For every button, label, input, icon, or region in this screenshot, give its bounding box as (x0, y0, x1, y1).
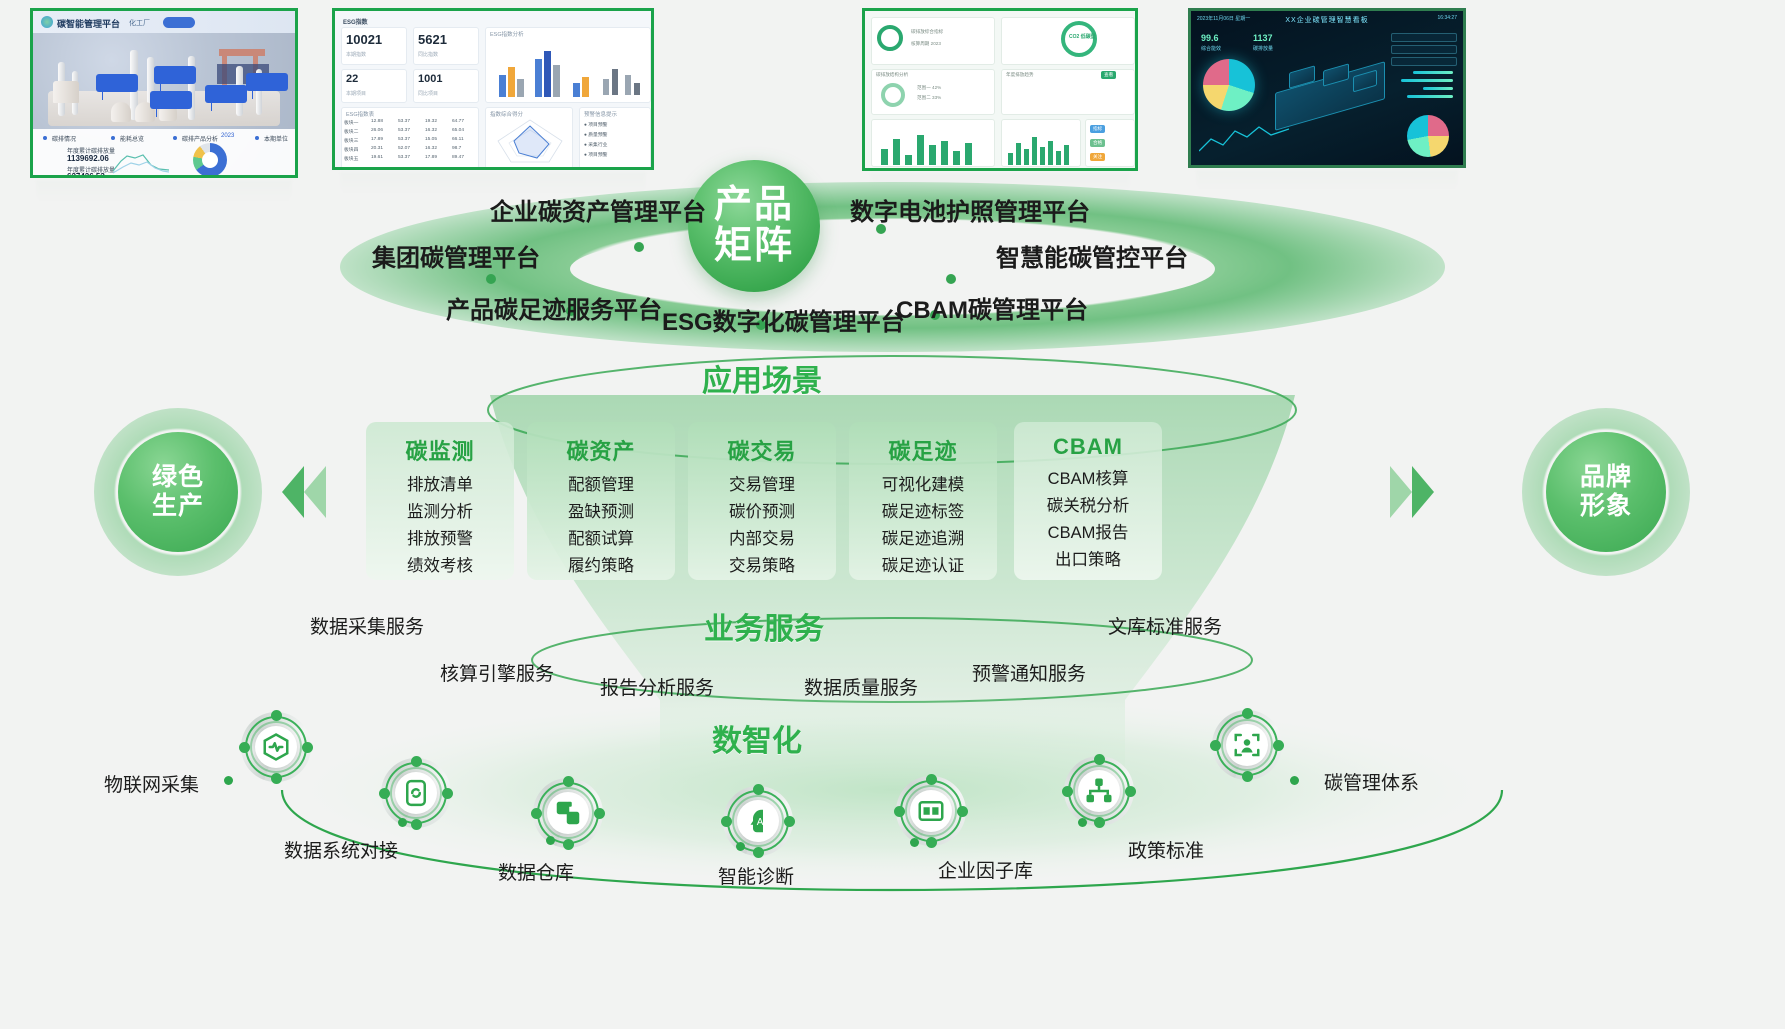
scenario-card-item[interactable]: 碳足迹认证 (882, 553, 965, 580)
panel-label-0: 碳排情况 (52, 134, 76, 143)
service-label-accounting-engine[interactable]: 核算引擎服务 (440, 659, 554, 686)
platform-label-product-carbon-footprint[interactable]: 产品碳足迹服务平台 (446, 290, 662, 325)
table-cell: 52.07 (398, 146, 410, 151)
table-cell: 板块二 (344, 128, 358, 135)
ring-dot-3 (946, 274, 956, 284)
node-pip-bottom (411, 819, 422, 830)
scenario-card-item[interactable]: 碳足迹追溯 (882, 526, 965, 553)
table-cell: 66.11 (452, 137, 464, 142)
person-scan-icon (1226, 724, 1268, 766)
mini-bar-chart (599, 45, 645, 95)
matrix-center-line1: 产品 (714, 185, 794, 226)
node-pip-left (239, 742, 250, 753)
panel-label-2: 碳排产品分析 (182, 134, 218, 143)
stat-value-1: 627426.53 (67, 172, 105, 178)
service-label-alert-notification[interactable]: 预警通知服务 (972, 659, 1086, 686)
node-pip-bottom (1242, 771, 1253, 782)
table-cell: 板块四 (344, 146, 358, 153)
platform-label-enterprise-carbon-asset[interactable]: 企业碳资产管理平台 (490, 192, 706, 227)
node-pip-top (1094, 754, 1105, 765)
scenario-card-title: 碳交易 (727, 434, 796, 466)
digital-node-data-system-docking[interactable] (381, 758, 451, 828)
table-cell: 89.47 (452, 155, 464, 160)
table-cell: 98.7 (452, 146, 461, 151)
scenario-card-carbon-asset[interactable]: 碳资产配额管理盈缺预测配额试算履约策略 (527, 422, 675, 580)
service-label-report-analysis[interactable]: 报告分析服务 (600, 673, 714, 700)
thumbnail-esg-dashboard: ESG指数 10021 本期指数 5621 同比指数 22 本期项目 1001 … (332, 8, 654, 170)
node-pip-left (379, 788, 390, 799)
table-cell: 17.89 (425, 155, 437, 160)
scenario-card-item[interactable]: 配额管理 (568, 472, 634, 499)
service-label-library-standard[interactable]: 文库标准服务 (1108, 612, 1222, 639)
scenario-card-item[interactable]: 碳价预测 (729, 499, 795, 526)
year-filter[interactable]: 2023 (221, 133, 234, 139)
node-pip-right (1273, 740, 1284, 751)
curve-anchor-dot (398, 818, 407, 827)
scenario-card-item[interactable]: CBAM报告 (1048, 520, 1129, 547)
scenario-card-carbon-footprint[interactable]: 碳足迹可视化建模碳足迹标签碳足迹追溯碳足迹认证 (849, 422, 997, 580)
scenario-card-item[interactable]: 监测分析 (407, 499, 473, 526)
esg-kpi-2-label: 本期项目 (346, 90, 366, 97)
section-title-scenarios: 应用场景 (702, 356, 822, 400)
scenario-card-item[interactable]: 排放预警 (407, 526, 473, 553)
esg-chart-title: ESG指数分析 (490, 30, 524, 38)
table-cell: 15.05 (425, 137, 437, 142)
scenario-card-item[interactable]: 配额试算 (568, 526, 634, 553)
platform-label-smart-energy-carbon[interactable]: 智慧能碳管控平台 (996, 238, 1188, 273)
node-pip-bottom (753, 847, 764, 858)
esg-title: ESG指数 (343, 17, 368, 26)
stacked-squares-icon (547, 792, 589, 834)
eco-badge: CO2 低碳型 (1069, 33, 1096, 40)
scenario-card-item[interactable]: 出口策略 (1055, 547, 1121, 574)
scenario-card-title: 碳资产 (566, 434, 635, 466)
svg-text:AI: AI (757, 817, 766, 828)
node-pip-top (563, 776, 574, 787)
plant-3d-scene (43, 47, 284, 132)
node-pip-top (926, 774, 937, 785)
thumbnail-carbon-smart-platform: 碳智能管理平台 化工厂 碳排情况 能耗总览 碳排产品分析 2023 本期单位 年… (30, 8, 298, 178)
section-title-business-services: 业务服务 (704, 604, 824, 648)
product-matrix-center: 产品 矩阵 (688, 160, 820, 292)
node-pip-right (784, 816, 795, 827)
chevron-right-icon (1390, 466, 1434, 518)
scenario-card-carbon-trading[interactable]: 碳交易交易管理碳价预测内部交易交易策略 (688, 422, 836, 580)
esg-kpi-2-value: 22 (346, 73, 358, 85)
esg-table-title: ESG指数表 (346, 110, 374, 118)
org-chart-icon (1078, 770, 1120, 812)
thumbnail-reflection-1 (36, 180, 292, 210)
curve-anchor-dot (224, 776, 233, 785)
device-sync-icon (395, 772, 437, 814)
node-pip-top (753, 784, 764, 795)
table-row: 板块三17.8953.3715.0566.11 (344, 137, 476, 146)
bi-metric-0-label: 综合能效 (1201, 45, 1221, 52)
matrix-center-line2: 矩阵 (714, 226, 794, 267)
bi-metric-1-value: 1137 (1253, 33, 1273, 43)
scenario-card-item[interactable]: 碳足迹标签 (882, 499, 965, 526)
scenario-card-item[interactable]: 内部交易 (729, 526, 795, 553)
table-cell: 17.89 (371, 137, 383, 142)
service-label-data-collection[interactable]: 数据采集服务 (310, 612, 424, 639)
bi-metric-0-value: 99.6 (1201, 33, 1219, 43)
node-pip-right (594, 808, 605, 819)
bi-isometric-scene (1271, 55, 1391, 129)
node-pip-right (1125, 786, 1136, 797)
service-label-data-quality[interactable]: 数据质量服务 (804, 673, 918, 700)
scenario-card-item[interactable]: 交易管理 (729, 472, 795, 499)
digital-node-intelligent-diagnosis[interactable]: AI (723, 786, 793, 856)
report-bar-chart-right (1006, 131, 1076, 165)
panel-label-1: 能耗总览 (120, 134, 144, 143)
ai-head-icon: AI (737, 800, 779, 842)
table-cell: 53.37 (398, 119, 410, 124)
table-cell: 53.37 (398, 128, 410, 133)
node-pip-left (1210, 740, 1221, 751)
table-cell: 16.32 (425, 128, 437, 133)
node-pip-left (1062, 786, 1073, 797)
scenario-card-item[interactable]: 可视化建模 (882, 472, 965, 499)
table-cell: 12.88 (371, 119, 383, 124)
node-pip-top (1242, 708, 1253, 719)
pillar-right-line2: 形象 (1580, 492, 1632, 521)
plant-selector[interactable]: 化工厂 (129, 18, 150, 28)
thumbnail-esg-report: 碳排放综合指标 核算周期 2023 CO2 低碳型 碳排放结构分析 范围一 42… (862, 8, 1138, 171)
digital-node-carbon-management-system[interactable] (1212, 710, 1282, 780)
bar-chart (493, 43, 593, 97)
digital-node-enterprise-factor-library[interactable] (896, 776, 966, 846)
platform-label-cbam-carbon[interactable]: CBAM碳管理平台 (896, 290, 1088, 325)
node-pip-right (442, 788, 453, 799)
node-pip-left (894, 806, 905, 817)
scenario-card-carbon-monitoring[interactable]: 碳监测排放清单监测分析排放预警绩效考核 (366, 422, 514, 580)
scenario-card-item[interactable]: 排放清单 (407, 472, 473, 499)
curve-anchor-dot (1290, 776, 1299, 785)
digital-node-label-intelligent-diagnosis[interactable]: 智能诊断 (718, 862, 794, 889)
enter-system-button[interactable] (163, 17, 195, 28)
table-cell: 64.77 (452, 119, 464, 124)
node-pip-bottom (563, 839, 574, 850)
platform-label-digital-battery-passport[interactable]: 数字电池护照管理平台 (850, 192, 1090, 227)
pillar-brand-image: 品牌 形象 (1522, 408, 1690, 576)
scenario-card-title: CBAM (1053, 434, 1123, 460)
scenario-card-cbam[interactable]: CBAMCBAM核算碳关税分析CBAM报告出口策略 (1014, 422, 1162, 580)
digital-node-label-carbon-management-system[interactable]: 碳管理体系 (1324, 768, 1419, 795)
chevron-left-icon (282, 466, 326, 518)
node-pip-bottom (1094, 817, 1105, 828)
esg-kpi-0-label: 本期指数 (346, 51, 366, 58)
stat-value-0: 1139692.06 (67, 154, 109, 163)
section-title-digital: 数智化 (712, 716, 802, 760)
diagram-canvas: 碳智能管理平台 化工厂 碳排情况 能耗总览 碳排产品分析 2023 本期单位 年… (0, 0, 1785, 1029)
esg-kpi-1-label: 同比指数 (418, 51, 438, 58)
table-cell: 板块三 (344, 137, 358, 144)
node-pip-top (411, 756, 422, 767)
database-book-icon (910, 790, 952, 832)
table-cell: 板块五 (344, 155, 358, 162)
kpi-panel: 碳排情况 能耗总览 碳排产品分析 2023 本期单位 年度累计碳排放量 1139… (33, 129, 295, 175)
line-chart (113, 147, 169, 175)
table-row: 板块五19.6153.3717.8989.47 (344, 155, 476, 164)
node-pip-bottom (271, 773, 282, 784)
alert-list-title: 预警信息提示 (584, 110, 617, 118)
bi-pie-chart-2 (1407, 115, 1449, 157)
esg-kpi-3-value: 1001 (418, 73, 442, 85)
thumbnail-title: 碳智能管理平台 (57, 17, 120, 30)
bi-time: 16:34:27 (1438, 15, 1457, 21)
pillar-left-line1: 绿色 (152, 463, 204, 492)
digital-node-iot-collection[interactable] (241, 712, 311, 782)
table-cell: 53.37 (398, 137, 410, 142)
table-cell: 19.32 (425, 119, 437, 124)
esg-kpi-3-label: 同比项目 (418, 90, 438, 97)
table-cell: 20.31 (371, 146, 383, 151)
ring-dot-2 (486, 274, 496, 284)
ring-dot-0 (634, 242, 644, 252)
table-row: 板块四20.3152.0716.3298.7 (344, 146, 476, 155)
pillar-right-line1: 品牌 (1580, 463, 1632, 492)
pillar-green-production: 绿色 生产 (94, 408, 262, 576)
curve-anchor-dot (546, 836, 555, 845)
panel-label-3: 本期单位 (264, 134, 288, 143)
donut-chart (193, 143, 227, 177)
radar-chart (493, 117, 567, 165)
bi-title: XX企业碳管理智慧看板 (1285, 15, 1368, 25)
node-pip-left (531, 808, 542, 819)
digital-node-label-data-system-docking[interactable]: 数据系统对接 (284, 836, 398, 863)
curve-anchor-dot (1078, 818, 1087, 827)
table-cell: 53.37 (398, 155, 410, 160)
scenario-card-title: 碳足迹 (888, 434, 957, 466)
digital-node-policy-standard[interactable] (1064, 756, 1134, 826)
thumbnail-energy-bi-screen: 2023年11月06日 星期一 XX企业碳管理智慧看板 16:34:27 99.… (1188, 8, 1466, 168)
bi-date: 2023年11月06日 星期一 (1197, 15, 1250, 22)
node-pip-top (271, 710, 282, 721)
scenario-card-item[interactable]: CBAM核算 (1048, 466, 1129, 493)
table-row: 板块二26.0653.3716.3265.04 (344, 128, 476, 137)
platform-label-group-carbon[interactable]: 集团碳管理平台 (372, 238, 540, 273)
platform-label-esg-digital-carbon[interactable]: ESG数字化碳管理平台 (662, 302, 905, 337)
scenario-card-item[interactable]: 碳关税分析 (1047, 493, 1130, 520)
bi-line-chart (1199, 119, 1289, 159)
table-cell: 16.32 (425, 146, 437, 151)
table-cell: 板块一 (344, 119, 358, 126)
digital-node-data-warehouse[interactable] (533, 778, 603, 848)
scenario-card-title: 碳监测 (405, 434, 474, 466)
curve-anchor-dot (736, 842, 745, 851)
esg-kpi-0-value: 10021 (346, 32, 382, 47)
table-row: 板块一12.8853.3719.3264.77 (344, 119, 476, 128)
table-cell: 19.61 (371, 155, 383, 160)
digital-node-label-policy-standard[interactable]: 政策标准 (1128, 836, 1204, 863)
curve-anchor-dot (910, 838, 919, 847)
table-cell: 65.04 (452, 128, 464, 133)
node-pip-right (302, 742, 313, 753)
digital-node-label-data-warehouse[interactable]: 数据仓库 (498, 858, 574, 885)
scenario-card-item[interactable]: 交易策略 (729, 553, 795, 580)
report-bar-chart-left (877, 131, 989, 165)
bi-metric-1-label: 碳排放量 (1253, 45, 1273, 52)
table-cell: 26.06 (371, 128, 383, 133)
node-pip-bottom (926, 837, 937, 848)
scenario-card-item[interactable]: 绩效考核 (407, 553, 473, 580)
scenario-card-item[interactable]: 盈缺预测 (568, 499, 634, 526)
platform-logo-icon (41, 16, 53, 28)
digital-node-label-iot-collection[interactable]: 物联网采集 (104, 770, 199, 797)
pillar-left-line2: 生产 (152, 492, 204, 521)
pulse-hex-icon (255, 726, 297, 768)
digital-node-label-enterprise-factor-library[interactable]: 企业因子库 (938, 856, 1033, 883)
scenario-card-item[interactable]: 履约策略 (568, 553, 634, 580)
bi-pie-chart (1203, 59, 1255, 111)
node-pip-right (957, 806, 968, 817)
node-pip-left (721, 816, 732, 827)
esg-kpi-1-value: 5621 (418, 32, 447, 47)
